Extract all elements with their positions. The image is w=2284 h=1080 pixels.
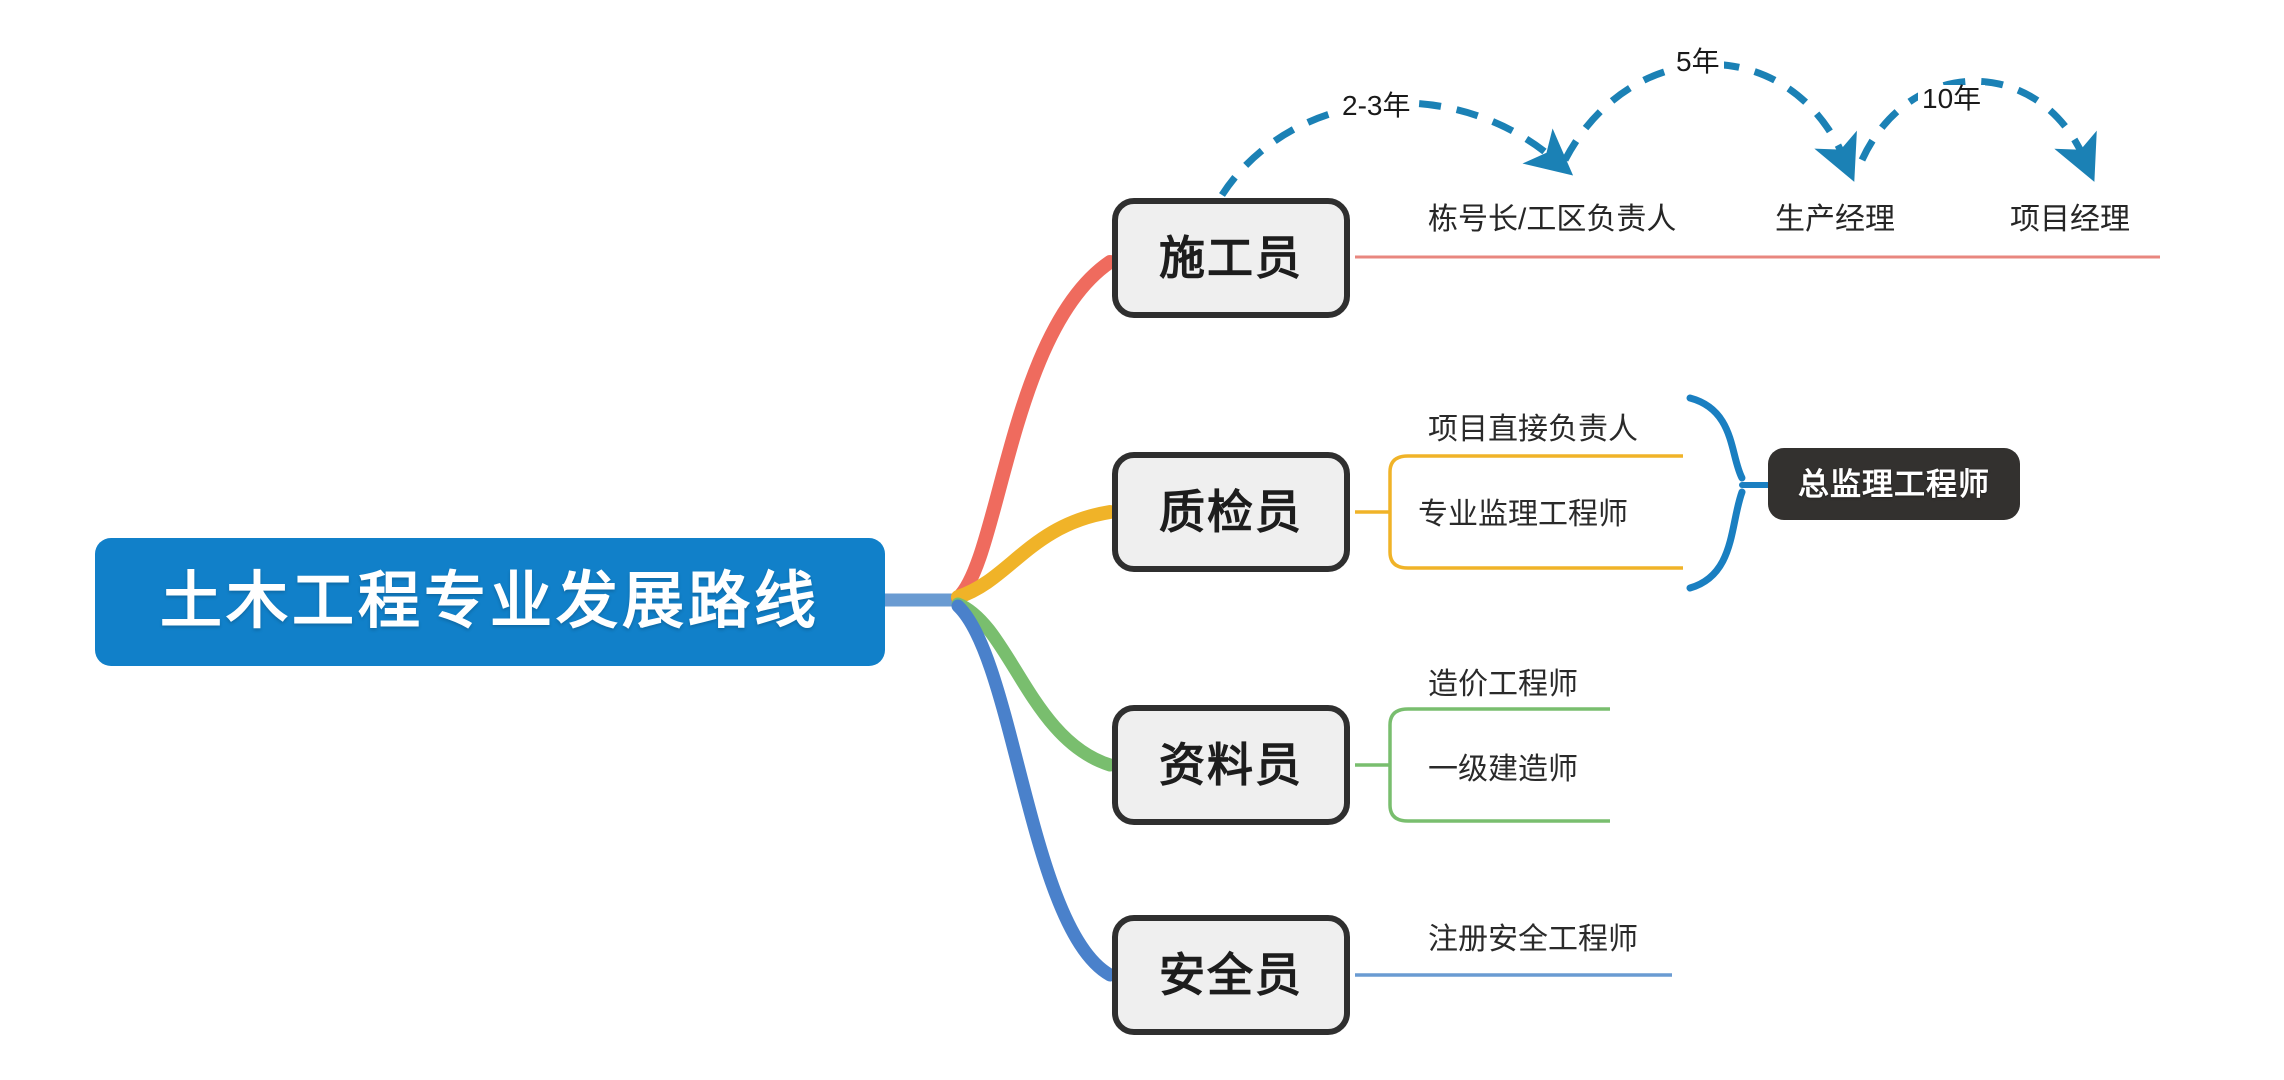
progression-transition-3: 10年 [1918, 85, 1985, 113]
progression-stage-2: 生产经理 [1775, 205, 1895, 235]
mindmap-canvas: 土木工程专业发展路线 施工员 质检员 资料员 安全员 栋号长/工区负责人 生产经… [0, 0, 2284, 1080]
branch-node-ziliaoyuan[interactable]: 资料员 [1112, 705, 1350, 825]
leaf-anquanyuan-1: 注册安全工程师 [1428, 925, 1638, 955]
progression-arc-2 [1565, 64, 1845, 160]
leaf-zhijianyuan-2: 专业监理工程师 [1418, 500, 1628, 530]
root-node[interactable]: 土木工程专业发展路线 [95, 538, 885, 666]
branch-node-label: 施工员 [1159, 235, 1303, 281]
leaf-ziliaoyuan-1: 造价工程师 [1428, 670, 1578, 700]
progression-transition-1: 2-3年 [1338, 92, 1414, 120]
progression-stage-1: 栋号长/工区负责人 [1428, 205, 1676, 235]
branch-node-zhijianyuan[interactable]: 质检员 [1112, 452, 1350, 572]
group-badge-label: 总监理工程师 [1798, 469, 1990, 500]
leaf-ziliaoyuan-2: 一级建造师 [1428, 755, 1578, 785]
branch-node-anquanyuan[interactable]: 安全员 [1112, 915, 1350, 1035]
group-brace [1690, 398, 1742, 478]
group-badge-zongjianli[interactable]: 总监理工程师 [1768, 448, 2020, 520]
root-node-label: 土木工程专业发展路线 [160, 571, 820, 633]
branch-node-shigongyuan[interactable]: 施工员 [1112, 198, 1350, 318]
group-brace-lower [1690, 492, 1742, 588]
leaf-zhijianyuan-1: 项目直接负责人 [1428, 415, 1638, 445]
progression-transition-2: 5年 [1672, 48, 1724, 76]
branch-curve-anquanyuan [958, 606, 1110, 975]
branch-node-label: 资料员 [1159, 742, 1303, 788]
branch-node-label: 质检员 [1159, 489, 1303, 535]
progression-stage-3: 项目经理 [2010, 205, 2130, 235]
branch-node-label: 安全员 [1159, 952, 1303, 998]
